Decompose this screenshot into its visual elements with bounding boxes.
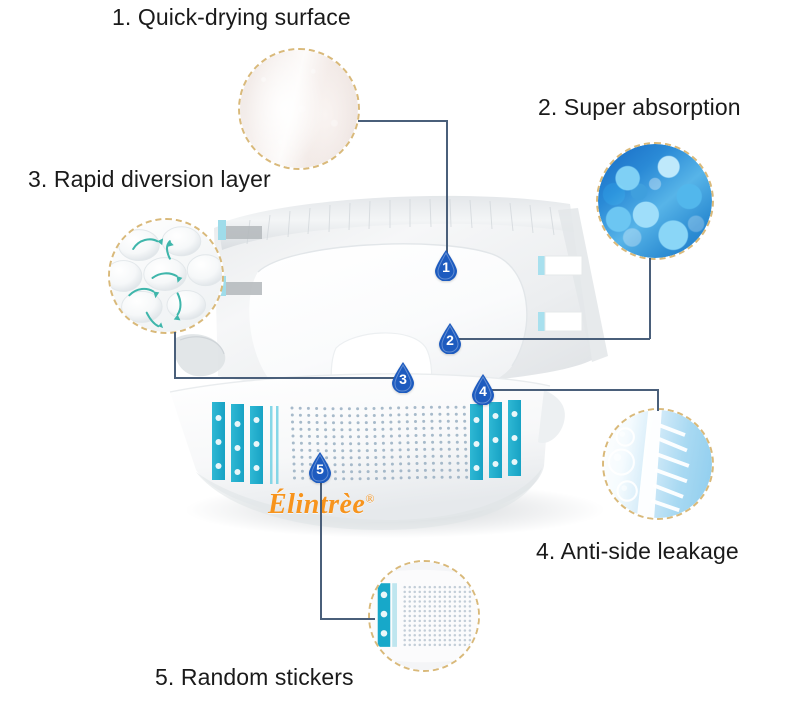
connector-1-horizontal	[358, 120, 448, 122]
caption-quick-drying-surface: 1. Quick-drying surface	[112, 6, 351, 29]
callout-super-absorption[interactable]	[596, 142, 714, 260]
marker-drop-2[interactable]: 2	[437, 322, 463, 354]
marker-drop-3[interactable]: 3	[390, 361, 416, 393]
brand-name: Élintrèe	[268, 489, 365, 520]
callout-quick-drying-surface[interactable]	[238, 48, 360, 170]
marker-drop-5[interactable]: 5	[307, 451, 333, 483]
callout-random-stickers[interactable]	[368, 560, 480, 672]
connector-2-horizontal	[455, 338, 650, 340]
connector-3-vertical	[174, 332, 176, 378]
infographic-canvas: Élintrèe®	[0, 0, 800, 703]
rapid-diversion-layer-image	[110, 220, 222, 332]
connector-5-vertical	[320, 480, 322, 619]
anti-side-leakage-image	[604, 410, 712, 518]
registered-mark: ®	[365, 492, 375, 506]
caption-rapid-diversion-layer: 3. Rapid diversion layer	[28, 168, 271, 191]
connector-3-horizontal	[174, 377, 403, 379]
super-absorption-image	[598, 144, 712, 258]
caption-super-absorption: 2. Super absorption	[538, 96, 741, 119]
callout-anti-side-leakage[interactable]	[602, 408, 714, 520]
caption-anti-side-leakage: 4. Anti-side leakage	[536, 540, 739, 563]
connector-2-vertical	[649, 258, 651, 339]
connector-5-horizontal	[320, 618, 375, 620]
quick-drying-surface-image	[240, 50, 358, 168]
marker-drop-4[interactable]: 4	[470, 373, 496, 405]
caption-random-stickers: 5. Random stickers	[155, 666, 354, 689]
connector-4-horizontal	[488, 389, 658, 391]
callout-rapid-diversion-layer[interactable]	[108, 218, 224, 334]
random-stickers-image	[370, 562, 478, 670]
connector-4-vertical	[657, 389, 659, 411]
connector-1-vertical	[446, 120, 448, 258]
marker-drop-1[interactable]: 1	[433, 249, 459, 281]
